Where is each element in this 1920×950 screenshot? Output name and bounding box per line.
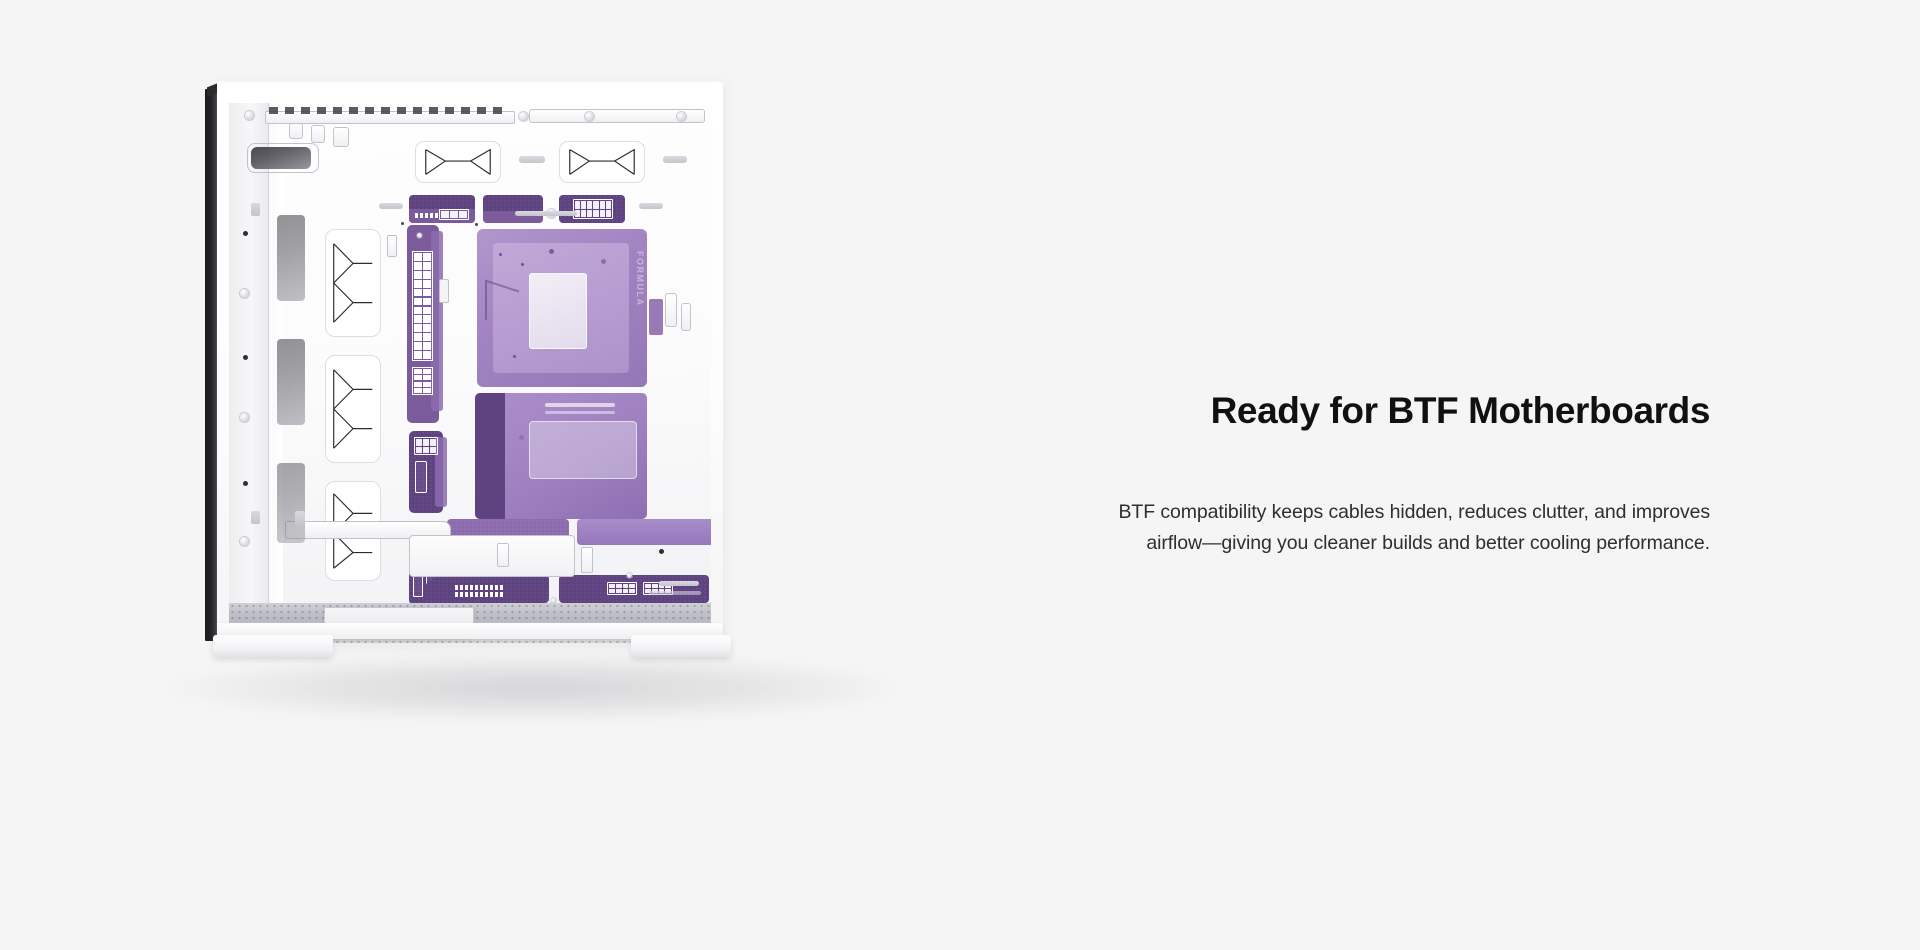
pcie-slot-marker (415, 461, 427, 493)
slot-mark (639, 203, 663, 209)
btf-bottom-bar-2 (577, 519, 711, 545)
pin-row (455, 592, 503, 597)
cable-grommet (325, 355, 381, 463)
side-slot (681, 303, 691, 331)
standoff-slot (663, 156, 687, 163)
top-perforation (269, 107, 509, 114)
hole (601, 259, 606, 264)
square-hole (251, 203, 260, 216)
hole (243, 355, 248, 360)
tab (289, 123, 303, 139)
page-root: FORMULA (0, 0, 1920, 950)
screw (240, 289, 249, 298)
standoff (387, 235, 397, 257)
copy-block: Ready for BTF Motherboards BTF compatibi… (1020, 0, 1760, 950)
btf-rear-io-edge (475, 393, 505, 519)
hole (521, 263, 524, 266)
brand-mark: FORMULA (635, 251, 645, 307)
square-hole (295, 511, 305, 525)
body-description: BTF compatibility keeps cables hidden, r… (1110, 497, 1710, 560)
pc-case: FORMULA (205, 75, 735, 655)
pin-header-grid (573, 199, 613, 219)
io-line (545, 411, 615, 414)
shroud-face (409, 535, 575, 577)
io-line (545, 403, 615, 407)
screw (417, 233, 422, 238)
pin-header-grid (607, 582, 637, 595)
side-slot (665, 293, 677, 327)
page-title: Ready for BTF Motherboards (1211, 390, 1710, 433)
hole (243, 481, 248, 486)
screw (519, 112, 528, 121)
hole (493, 453, 496, 456)
eps-8pin-connector (412, 367, 433, 395)
pin-row (455, 585, 503, 590)
btf-side-connector (649, 299, 663, 335)
screw (677, 112, 686, 121)
cable-grommet (325, 229, 381, 337)
hole (519, 435, 524, 440)
case-foot-right (631, 635, 731, 657)
left-rail (229, 103, 269, 603)
shroud-slot (581, 547, 593, 573)
hole (513, 355, 516, 358)
motherboard-tray: FORMULA (229, 103, 711, 603)
atx-24pin-connector (412, 251, 433, 361)
screw (245, 111, 254, 120)
rear-fan-cutout (277, 339, 305, 425)
hole (499, 253, 502, 256)
slot-mark (379, 203, 403, 209)
shroud-slot (497, 543, 509, 567)
case-foot-left (213, 635, 333, 657)
rear-fan-cutout (277, 215, 305, 301)
slot-mark (659, 581, 699, 586)
tab (311, 125, 325, 143)
hole (243, 231, 248, 236)
rear-fan-cutout (277, 463, 305, 543)
hole (659, 549, 664, 554)
pin-header-grid (414, 437, 438, 455)
slot-mark (649, 591, 701, 595)
screw (240, 537, 249, 546)
product-image: FORMULA (185, 75, 885, 695)
clip (439, 279, 449, 303)
screw (627, 573, 632, 578)
cable-grommet (415, 141, 501, 183)
tab (333, 127, 349, 147)
cable-grommet (559, 141, 645, 183)
cpu-socket-cutout (529, 273, 587, 349)
io-cutout (529, 421, 637, 479)
square-hole (251, 511, 260, 524)
hole (475, 223, 478, 226)
slot-mark (515, 211, 577, 216)
top-left-cutout-frame (247, 143, 319, 173)
pin-row (415, 213, 438, 218)
screw (240, 413, 249, 422)
screw (585, 112, 594, 121)
hole (549, 249, 554, 254)
btf-backplate-panel: FORMULA (477, 229, 647, 387)
floor-shadow (35, 643, 1035, 733)
pin-header (439, 209, 469, 220)
hole (401, 222, 404, 225)
standoff-slot (519, 156, 545, 163)
